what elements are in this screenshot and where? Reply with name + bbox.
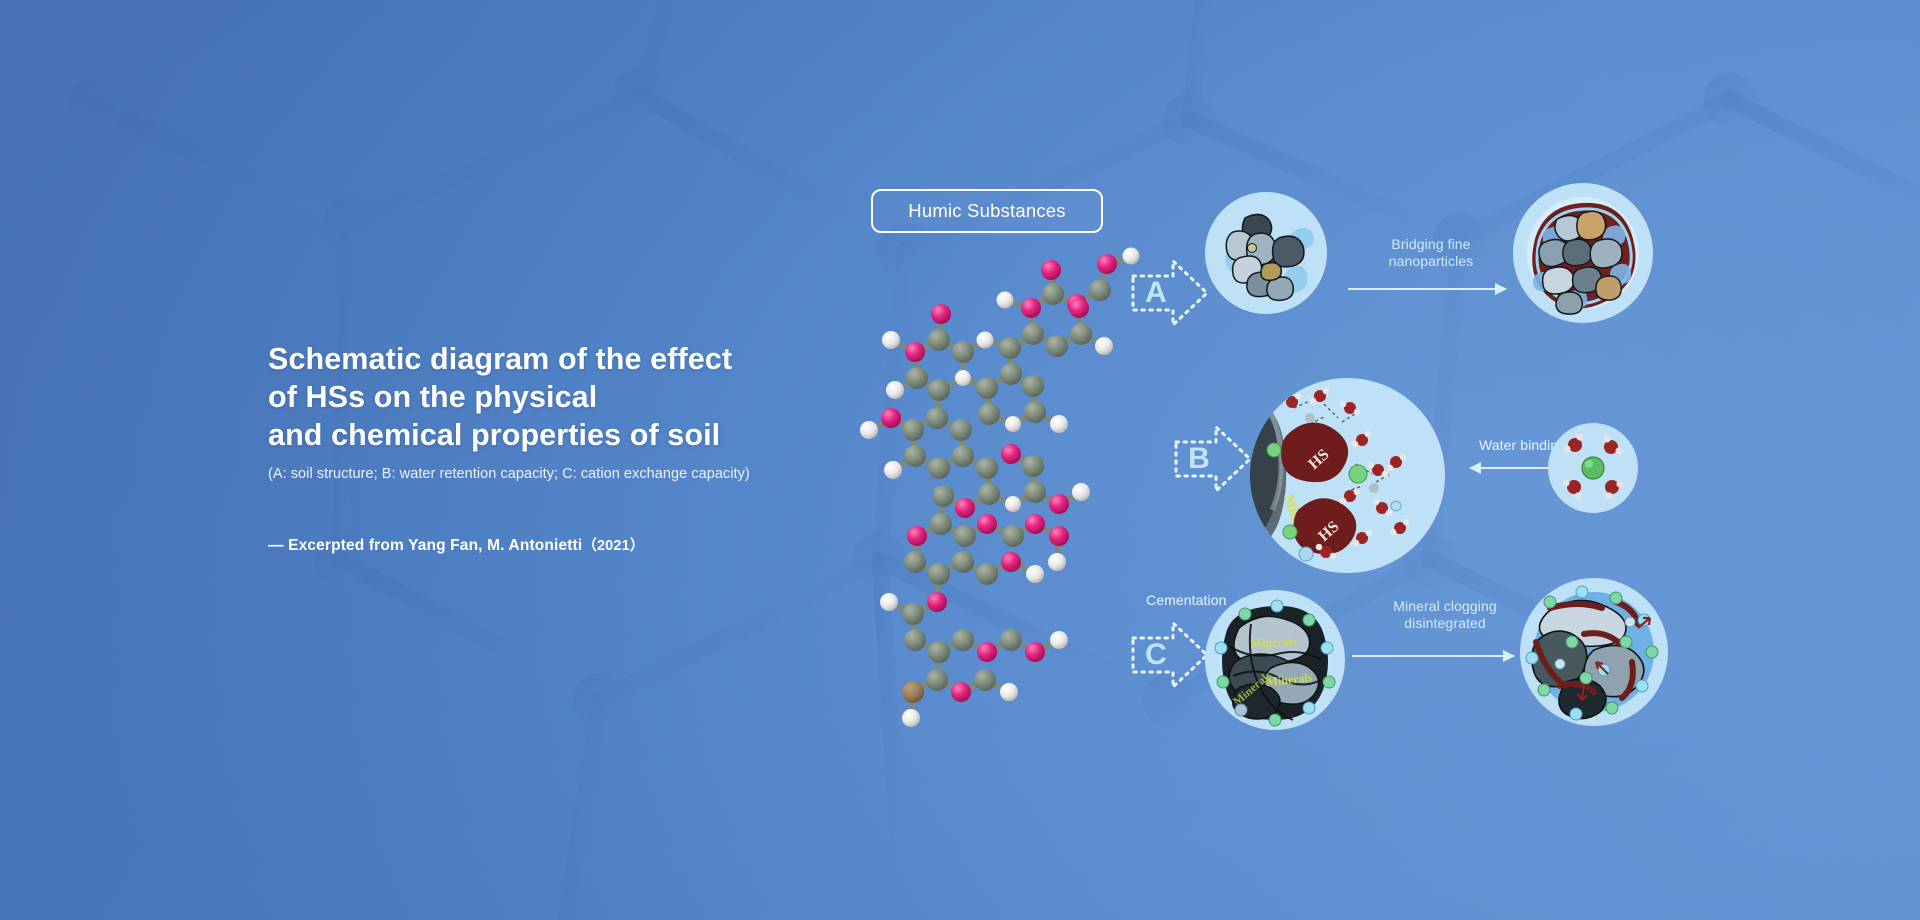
humic-substances-label-text: Humic Substances: [908, 200, 1065, 222]
stage-arrow-a[interactable]: A: [1129, 256, 1211, 330]
flow-arrow-c: [1352, 655, 1514, 657]
stage-arrow-a-letter: A: [1133, 278, 1179, 308]
page-title-line-1: Schematic diagram of the effect: [268, 340, 888, 378]
circle-humic-substance-water-interface: Mineral HS HS: [1250, 378, 1445, 573]
mineral-clogged-art: Minerals Minerals Minerals: [1205, 590, 1345, 730]
stage-arrow-c[interactable]: C: [1129, 618, 1211, 692]
stage-arrow-b-letter: B: [1176, 444, 1222, 474]
hydrated-cation-art: [1548, 423, 1638, 513]
humic-substance-molecule-model: [845, 228, 1165, 738]
disintegrated-aggregate-art: [1520, 578, 1668, 726]
hs-mineral-water-art: Mineral HS HS: [1250, 378, 1445, 573]
attribution-line: — Excerpted from Yang Fan, M. Antonietti…: [268, 534, 888, 555]
attribution-text: — Excerpted from Yang Fan, M. Antonietti: [268, 537, 582, 554]
flow-arrow-a: [1348, 288, 1506, 290]
flow-label-mineral-clogging-disintegrated: Mineral clogging disintegrated: [1350, 598, 1540, 632]
stage-arrow-c-letter: C: [1133, 640, 1179, 670]
page-title-line-2: of HSs on the physical: [268, 378, 888, 416]
circle-aggregated-soil-particles: [1513, 183, 1653, 323]
flow-label-bridging-fine-nanoparticles: Bridging fine nanoparticles: [1336, 236, 1526, 270]
page-title-line-3: and chemical properties of soil: [268, 416, 888, 454]
circle-disintegrated-mineral-aggregate: [1520, 578, 1668, 726]
headline-block: Schematic diagram of the effect of HSs o…: [268, 340, 888, 555]
page-subtitle: (A: soil structure; B: water retention c…: [268, 466, 888, 482]
attribution-year: （2021）: [582, 538, 644, 554]
circle-hydrated-cation: [1548, 423, 1638, 513]
circle-mineral-clogged-aggregate: Minerals Minerals Minerals: [1205, 590, 1345, 730]
humic-substances-label[interactable]: Humic Substances: [871, 189, 1103, 233]
dispersed-particles-art: [1205, 192, 1327, 314]
stage-arrow-b[interactable]: B: [1172, 422, 1254, 496]
poster-stage: Schematic diagram of the effect of HSs o…: [0, 0, 1920, 920]
page-title: Schematic diagram of the effect of HSs o…: [268, 340, 888, 454]
circle-dispersed-soil-particles: [1205, 192, 1327, 314]
aggregated-particles-art: [1513, 183, 1653, 323]
flow-arrow-b: [1470, 467, 1558, 469]
